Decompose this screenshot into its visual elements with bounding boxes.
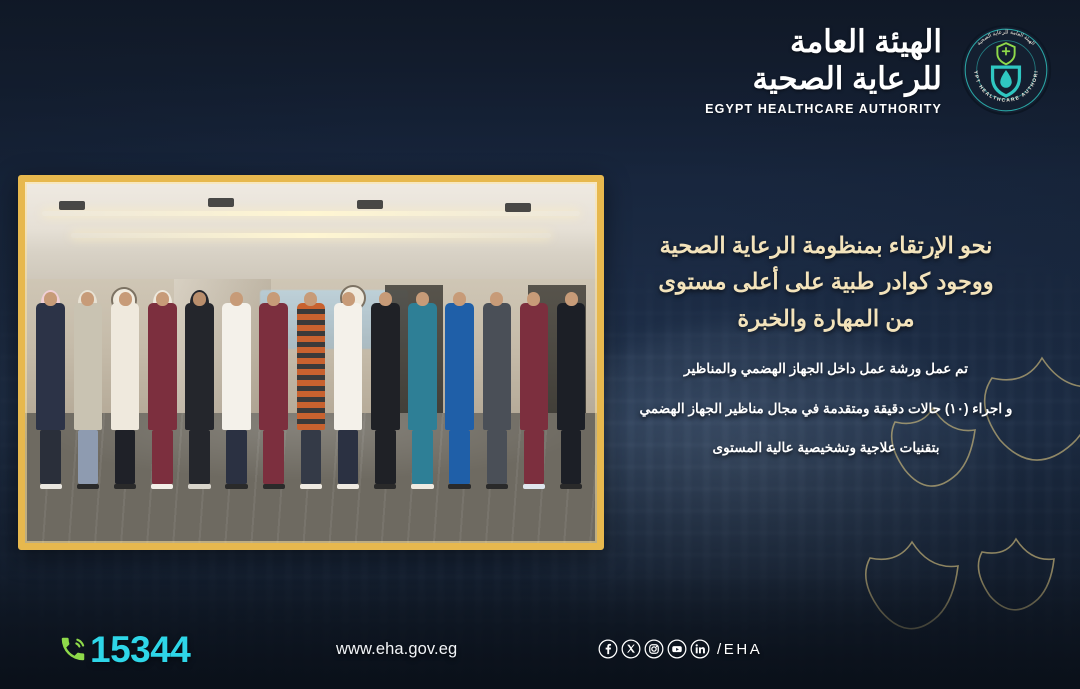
eha-seal-icon: الهيئة العامة للرعاية الصحية EGYPT HEALT… [958, 22, 1054, 118]
headline-line-2: ووجود كوادر طبية على أعلى مستوى [596, 264, 1056, 300]
photo-person [36, 290, 65, 489]
photo-person [334, 290, 363, 489]
brand-name-arabic-line1: الهيئة العامة [705, 24, 942, 61]
photo-person [297, 290, 326, 489]
x-twitter-icon[interactable] [621, 639, 641, 659]
photo-person [408, 290, 437, 489]
event-photo-scene [25, 182, 597, 543]
instagram-icon[interactable] [644, 639, 664, 659]
photo-person [557, 290, 586, 489]
photo-person [520, 290, 549, 489]
photo-person [74, 290, 103, 489]
photo-person [185, 290, 214, 489]
photo-person [222, 290, 251, 489]
hotline-number: 15344 [90, 631, 190, 668]
photo-person [445, 290, 474, 489]
facebook-icon[interactable] [598, 639, 618, 659]
headline-line-3: من المهارة والخبرة [596, 301, 1056, 337]
headline-line-1: نحو الإرتقاء بمنظومة الرعاية الصحية [596, 228, 1056, 264]
photo-ceiling [25, 182, 597, 279]
brand-header: الهيئة العامة للرعاية الصحية EGYPT HEALT… [705, 22, 1054, 118]
body-paragraph-3: بتقنيات علاجية وتشخيصية عالية المستوى [596, 438, 1056, 458]
photo-person [371, 290, 400, 489]
phone-icon [58, 634, 88, 664]
website-link[interactable]: www.eha.gov.eg [336, 640, 457, 659]
brand-name-arabic-line2: للرعاية الصحية [705, 61, 942, 98]
photo-person [111, 290, 140, 489]
event-photo [18, 175, 604, 550]
social-links: /EHA [598, 639, 762, 659]
headline-block: نحو الإرتقاء بمنظومة الرعاية الصحية ووجو… [596, 228, 1056, 337]
body-copy-block: تم عمل ورشة عمل داخل الجهاز الهضمي والمن… [596, 359, 1056, 458]
photo-staff-group [36, 290, 585, 489]
footer-bar: 15344 www.eha.gov.eg [0, 627, 1080, 671]
body-paragraph-2: و اجراء (١٠) حالات دقيقة ومتقدمة في مجال… [596, 399, 1056, 419]
poster-canvas: الهيئة العامة للرعاية الصحية EGYPT HEALT… [0, 0, 1080, 689]
photo-person [148, 290, 177, 489]
linkedin-icon[interactable] [690, 639, 710, 659]
photo-person [483, 290, 512, 489]
brand-name-english: EGYPT HEALTHCARE AUTHORITY [705, 102, 942, 116]
youtube-icon[interactable] [667, 639, 687, 659]
announcement-copy: نحو الإرتقاء بمنظومة الرعاية الصحية ووجو… [596, 228, 1056, 477]
photo-person [259, 290, 288, 489]
brand-text-block: الهيئة العامة للرعاية الصحية EGYPT HEALT… [705, 24, 942, 116]
body-paragraph-1: تم عمل ورشة عمل داخل الجهاز الهضمي والمن… [596, 359, 1056, 379]
social-handle: /EHA [717, 641, 762, 658]
hotline[interactable]: 15344 [58, 631, 190, 668]
